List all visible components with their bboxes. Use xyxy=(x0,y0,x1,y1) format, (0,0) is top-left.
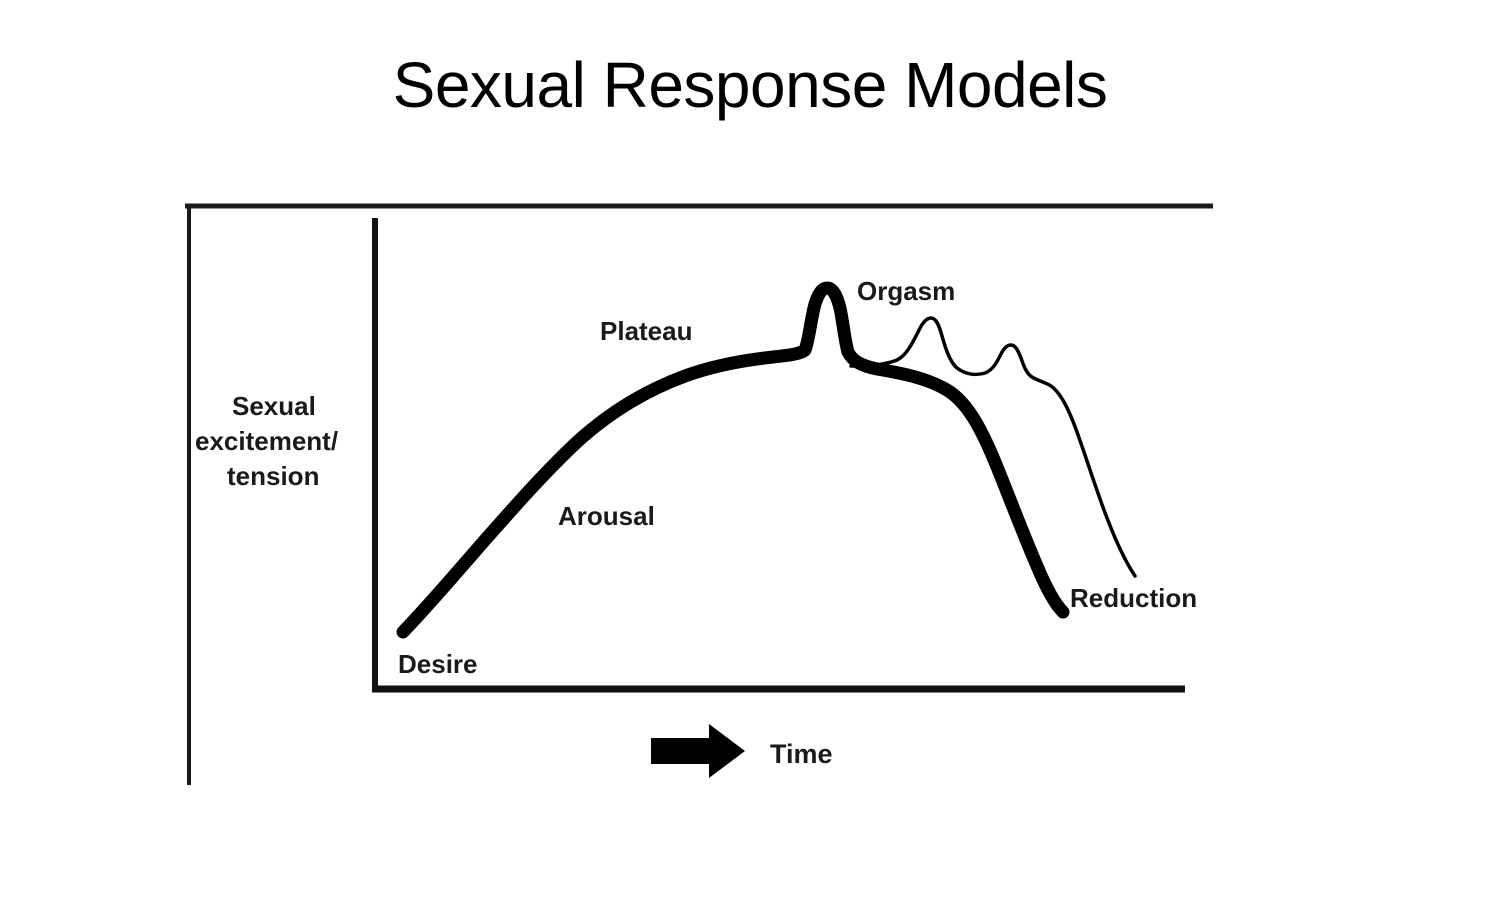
curve-label-reduction: Reduction xyxy=(1070,583,1197,613)
x-axis-label: Time xyxy=(770,739,833,769)
curve-label-arousal: Arousal xyxy=(558,501,655,531)
y-axis-label-line2: excitement/ xyxy=(195,426,338,456)
curve-label-plateau: Plateau xyxy=(600,316,693,346)
curve-label-orgasm: Orgasm xyxy=(857,276,955,306)
y-axis-label-line1: Sexual xyxy=(232,391,316,421)
page-title: Sexual Response Models xyxy=(0,50,1500,120)
chart-svg: Sexual excitement/ tension Desire Arousa… xyxy=(185,200,1245,800)
curve-label-desire: Desire xyxy=(398,649,478,679)
y-axis-label-line3: tension xyxy=(227,461,319,491)
slide-canvas: Sexual Response Models Sexual excitement… xyxy=(0,0,1500,904)
sexual-response-chart: Sexual excitement/ tension Desire Arousa… xyxy=(185,200,1245,800)
right-arrow-icon xyxy=(651,724,745,778)
main-response-curve xyxy=(403,288,1063,632)
